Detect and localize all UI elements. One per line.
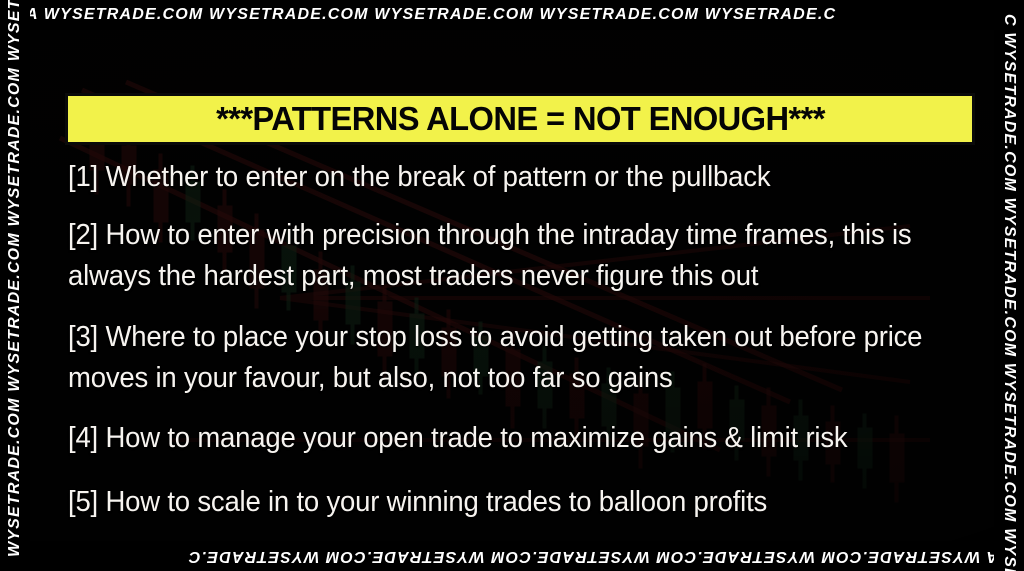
watermark-left: WYSETRADE.COM WYSETRADE.COM WYSETRADE.CO… xyxy=(0,0,30,571)
headline-text: ***PATTERNS ALONE = NOT ENOUGH*** xyxy=(216,100,825,138)
watermark-right: C WYSETRADE.COM WYSETRADE.COM WYSETRADE.… xyxy=(994,0,1024,571)
list-item: [5] How to scale in to your winning trad… xyxy=(68,482,956,523)
headline-banner: ***PATTERNS ALONE = NOT ENOUGH*** xyxy=(65,93,975,145)
list-item: [4] How to manage your open trade to max… xyxy=(68,418,956,459)
list-item: [3] Where to place your stop loss to avo… xyxy=(68,317,956,399)
watermark-right-text: C WYSETRADE.COM WYSETRADE.COM WYSETRADE.… xyxy=(1001,14,1017,571)
slide-root: ***PATTERNS ALONE = NOT ENOUGH*** [1] Wh… xyxy=(0,0,1024,571)
list-item: [2] How to enter with precision through … xyxy=(68,215,956,297)
watermark-top: A WYSETRADE.COM WYSETRADE.COM WYSETRADE.… xyxy=(0,0,1024,30)
content-stage: ***PATTERNS ALONE = NOT ENOUGH*** [1] Wh… xyxy=(30,30,994,541)
bullet-list: [1] Whether to enter on the break of pat… xyxy=(68,157,988,541)
watermark-bottom: A WYSETRADE.COM WYSETRADE.COM WYSETRADE.… xyxy=(0,541,1024,571)
watermark-left-text: WYSETRADE.COM WYSETRADE.COM WYSETRADE.CO… xyxy=(7,0,23,557)
list-item: [1] Whether to enter on the break of pat… xyxy=(68,157,956,198)
watermark-bottom-text: A WYSETRADE.COM WYSETRADE.COM WYSETRADE.… xyxy=(188,548,998,564)
watermark-top-text: A WYSETRADE.COM WYSETRADE.COM WYSETRADE.… xyxy=(26,7,836,23)
